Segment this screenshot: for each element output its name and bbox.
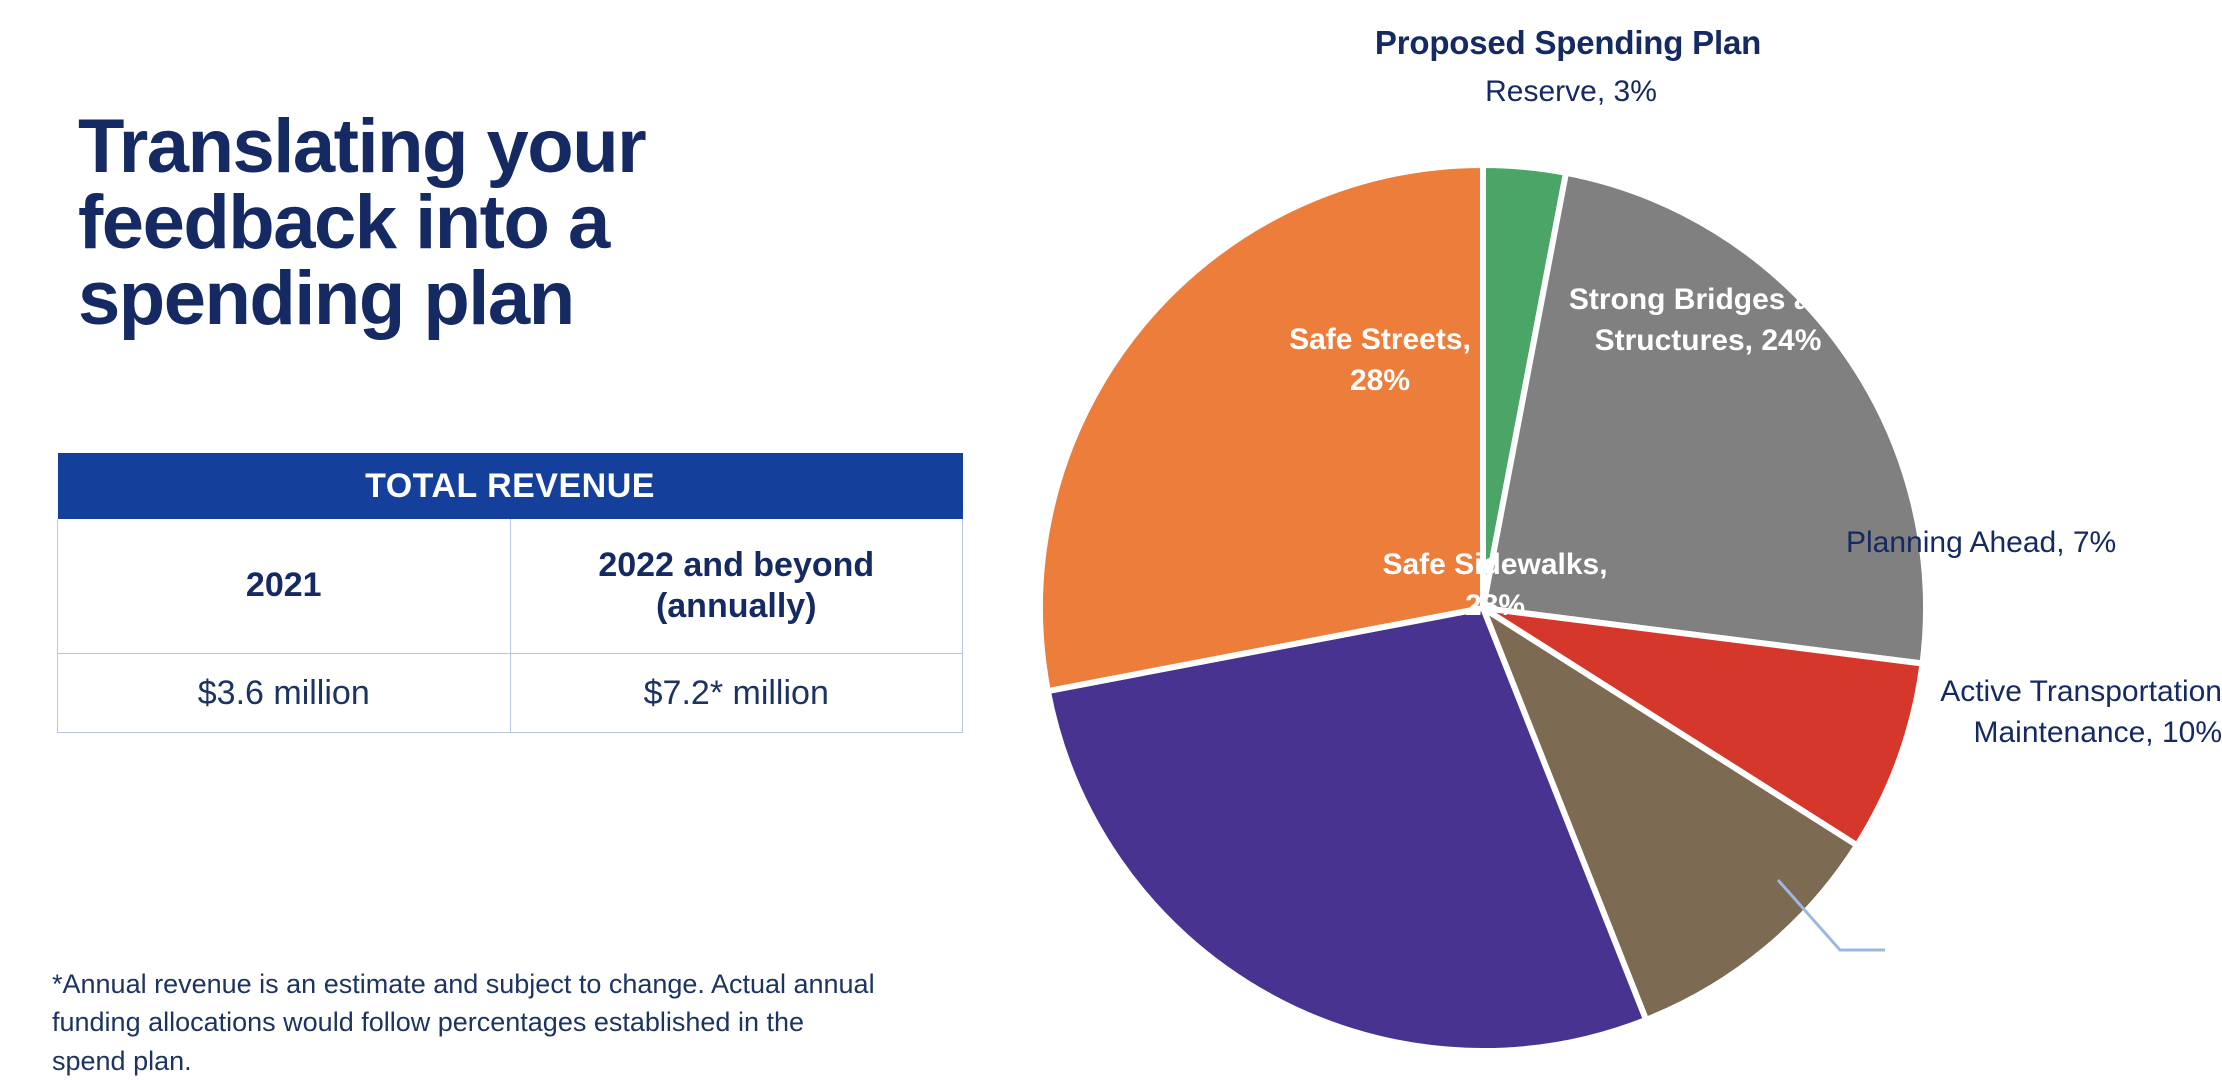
pie-slice-safe-streets[interactable] xyxy=(1040,165,1483,691)
footnote-text: *Annual revenue is an estimate and subje… xyxy=(52,965,882,1080)
pie-slice-strong-bridges-and-structures[interactable] xyxy=(1483,173,1926,664)
table-subheader-row: 2021 2022 and beyond (annually) xyxy=(58,519,963,654)
left-content-panel: Translating your feedback into a spendin… xyxy=(0,0,1000,1072)
table-cell-2022-value: $7.2* million xyxy=(510,654,963,733)
table-header-total-revenue: TOTAL REVENUE xyxy=(58,453,963,519)
page-title: Translating your feedback into a spendin… xyxy=(78,109,778,337)
pie-label-reserve: Reserve, 3% xyxy=(960,72,2182,113)
pie-label-active-transportation-maintenance: Active Transportation Maintenance, 10% xyxy=(1820,672,2222,753)
pie-slice-group xyxy=(1040,165,1926,1051)
table-column-header-2022-and-beyond: 2022 and beyond (annually) xyxy=(510,519,963,654)
table-row: $3.6 million $7.2* million xyxy=(58,654,963,733)
total-revenue-table: TOTAL REVENUE 2021 2022 and beyond (annu… xyxy=(57,453,963,733)
pie-label-planning-ahead: Planning Ahead, 7% xyxy=(1846,523,2222,564)
table-cell-2021-value: $3.6 million xyxy=(58,654,511,733)
pie-chart-panel: Proposed Spending Plan Safe Streets, 28%… xyxy=(1000,0,2222,1072)
table-column-header-2021: 2021 xyxy=(58,519,511,654)
table-header-row: TOTAL REVENUE xyxy=(58,453,963,519)
